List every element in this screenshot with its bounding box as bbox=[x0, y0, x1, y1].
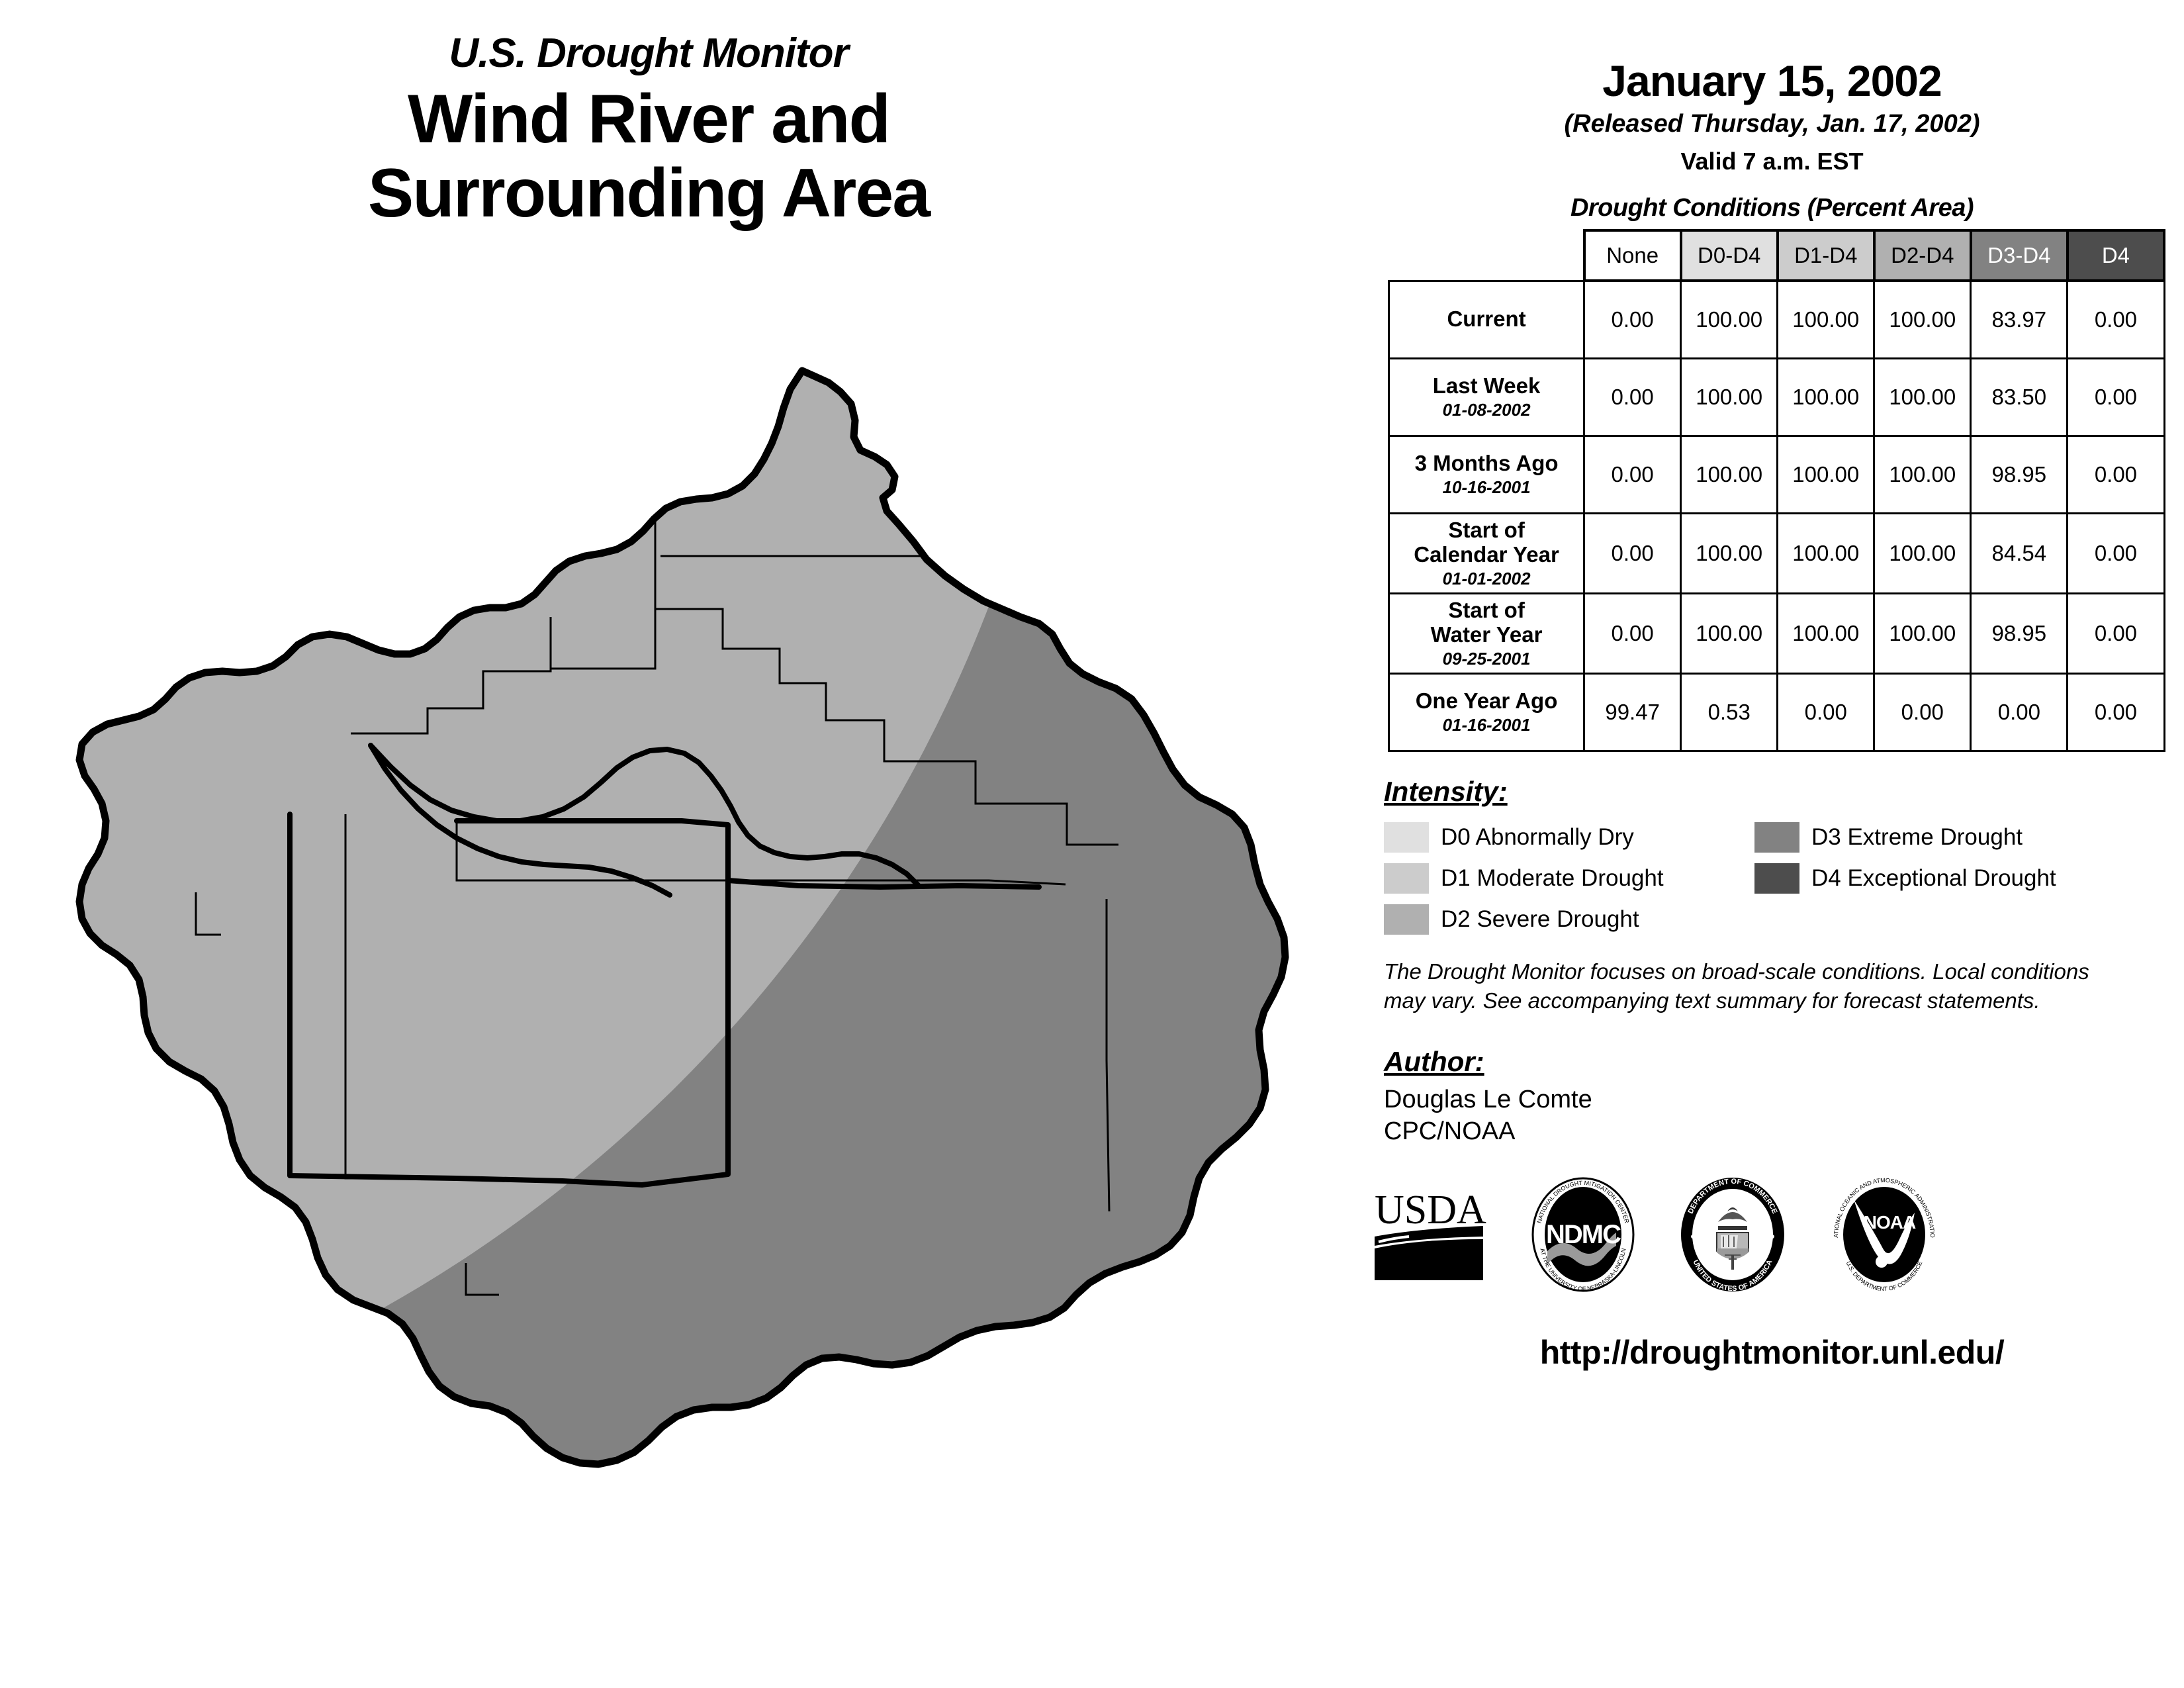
table-cell: 0.00 bbox=[2068, 436, 2164, 513]
map-container[interactable] bbox=[60, 357, 1304, 1542]
ndmc-logo: NDMC NATIONAL DROUGHT MITIGATION CENTER … bbox=[1530, 1177, 1636, 1296]
table-cell: 0.00 bbox=[2068, 358, 2164, 436]
table-row: Start of Water Year09-25-20010.00100.001… bbox=[1389, 593, 2165, 673]
table-cell: 0.00 bbox=[2068, 593, 2164, 673]
legend-item-d0: D0 Abnormally Dry bbox=[1384, 822, 1754, 853]
table-cell: 0.00 bbox=[2068, 513, 2164, 593]
row-label-name: Last Week bbox=[1392, 374, 1580, 399]
column-header-d1-d4: D1-D4 bbox=[1778, 230, 1874, 281]
table-cell: 100.00 bbox=[1778, 281, 1874, 358]
svg-text:USDA: USDA bbox=[1375, 1188, 1486, 1233]
author-name: Douglas Le Comte bbox=[1384, 1084, 2184, 1116]
table-cell: 0.00 bbox=[1971, 673, 2068, 751]
row-label-date: 10-16-2001 bbox=[1392, 478, 1580, 497]
row-label: One Year Ago01-16-2001 bbox=[1389, 673, 1584, 751]
disclaimer-text: The Drought Monitor focuses on broad-sca… bbox=[1384, 957, 2132, 1015]
column-header-none: None bbox=[1584, 230, 1681, 281]
table-caption: Drought Conditions (Percent Area) bbox=[1360, 194, 2184, 222]
intensity-heading: Intensity: bbox=[1384, 776, 1508, 808]
table-cell: 83.97 bbox=[1971, 281, 2068, 358]
legend-label-d0: D0 Abnormally Dry bbox=[1441, 824, 1634, 851]
table-cell: 0.00 bbox=[1584, 281, 1681, 358]
row-label: 3 Months Ago10-16-2001 bbox=[1389, 436, 1584, 513]
noaa-logo: NOAA NATIONAL OCEANIC AND ATMOSPHERIC AD… bbox=[1830, 1177, 1939, 1296]
table-cell: 100.00 bbox=[1681, 513, 1778, 593]
column-header-d3-d4: D3-D4 bbox=[1971, 230, 2068, 281]
row-label: Start of Calendar Year01-01-2002 bbox=[1389, 513, 1584, 593]
legend-label-d4: D4 Exceptional Drought bbox=[1811, 865, 2056, 892]
table-cell: 100.00 bbox=[1778, 593, 1874, 673]
table-cell: 98.95 bbox=[1971, 436, 2068, 513]
table-row: Current0.00100.00100.00100.0083.970.00 bbox=[1389, 281, 2165, 358]
legend-label-d3: D3 Extreme Drought bbox=[1811, 824, 2023, 851]
row-label-name: Start of Calendar Year bbox=[1392, 518, 1580, 567]
valid-date: January 15, 2002 bbox=[1360, 58, 2184, 104]
legend-swatch-d2 bbox=[1384, 904, 1429, 935]
row-label: Start of Water Year09-25-2001 bbox=[1389, 593, 1584, 673]
legend-item-d2: D2 Severe Drought bbox=[1384, 904, 1754, 935]
svg-text:NOAA: NOAA bbox=[1864, 1212, 1916, 1233]
column-header-d4: D4 bbox=[2068, 230, 2164, 281]
table-cell: 0.00 bbox=[1778, 673, 1874, 751]
table-cell: 100.00 bbox=[1681, 358, 1778, 436]
author-heading: Author: bbox=[1384, 1046, 1484, 1078]
legend-swatch-d0 bbox=[1384, 822, 1429, 853]
table-cell: 100.00 bbox=[1874, 593, 1971, 673]
table-header-row: NoneD0-D4D1-D4D2-D4D3-D4D4 bbox=[1389, 230, 2165, 281]
row-label: Current bbox=[1389, 281, 1584, 358]
table-cell: 100.00 bbox=[1874, 513, 1971, 593]
intensity-legend: Intensity: D0 Abnormally DryD3 Extreme D… bbox=[1384, 776, 2184, 935]
table-cell: 100.00 bbox=[1778, 513, 1874, 593]
table-cell: 100.00 bbox=[1681, 593, 1778, 673]
table-cell: 99.47 bbox=[1584, 673, 1681, 751]
row-label-date: 01-08-2002 bbox=[1392, 400, 1580, 420]
legend-item-d1: D1 Moderate Drought bbox=[1384, 863, 1754, 894]
row-label-name: One Year Ago bbox=[1392, 689, 1580, 714]
svg-text:NDMC: NDMC bbox=[1546, 1220, 1621, 1249]
table-cell: 0.53 bbox=[1681, 673, 1778, 751]
release-date: (Released Thursday, Jan. 17, 2002) bbox=[1360, 111, 2184, 138]
table-row: Start of Calendar Year01-01-20020.00100.… bbox=[1389, 513, 2165, 593]
author-block: Author: Douglas Le Comte CPC/NOAA bbox=[1384, 1046, 2184, 1148]
table-row: Last Week01-08-20020.00100.00100.00100.0… bbox=[1389, 358, 2165, 436]
table-row: 3 Months Ago10-16-20010.00100.00100.0010… bbox=[1389, 436, 2165, 513]
row-label-date: 01-16-2001 bbox=[1392, 716, 1580, 735]
table-row: One Year Ago01-16-200199.470.530.000.000… bbox=[1389, 673, 2165, 751]
logo-row: USDA NDMC NATIONAL DROUGHT MITIGATION CE… bbox=[1372, 1177, 2184, 1296]
table-cell: 84.54 bbox=[1971, 513, 2068, 593]
legend-grid: D0 Abnormally DryD3 Extreme DroughtD1 Mo… bbox=[1384, 822, 2184, 935]
table-cell: 0.00 bbox=[1584, 513, 1681, 593]
legend-label-d1: D1 Moderate Drought bbox=[1441, 865, 1664, 892]
column-header-d0-d4: D0-D4 bbox=[1681, 230, 1778, 281]
table-cell: 0.00 bbox=[2068, 673, 2164, 751]
table-cell: 100.00 bbox=[1778, 358, 1874, 436]
author-affiliation: CPC/NOAA bbox=[1384, 1116, 2184, 1148]
table-cell: 100.00 bbox=[1874, 436, 1971, 513]
table-cell: 0.00 bbox=[1584, 593, 1681, 673]
table-cell: 83.50 bbox=[1971, 358, 2068, 436]
table-cell: 100.00 bbox=[1874, 358, 1971, 436]
title-block: U.S. Drought Monitor Wind River and Surr… bbox=[86, 33, 1211, 231]
legend-item-d3: D3 Extreme Drought bbox=[1754, 822, 2184, 853]
table-cell: 100.00 bbox=[1778, 436, 1874, 513]
wind-river-drought-map[interactable] bbox=[60, 357, 1304, 1542]
table-cell: 0.00 bbox=[1874, 673, 1971, 751]
drought-conditions-table: NoneD0-D4D1-D4D2-D4D3-D4D4 Current0.0010… bbox=[1388, 229, 2165, 752]
drought-monitor-kicker: U.S. Drought Monitor bbox=[86, 33, 1211, 74]
table-body: Current0.00100.00100.00100.0083.970.00La… bbox=[1389, 281, 2165, 751]
legend-swatch-d4 bbox=[1754, 863, 1799, 894]
row-label: Last Week01-08-2002 bbox=[1389, 358, 1584, 436]
table-cell: 0.00 bbox=[2068, 281, 2164, 358]
row-label-name: Current bbox=[1392, 307, 1580, 332]
valid-time: Valid 7 a.m. EST bbox=[1360, 148, 2184, 175]
table-cell: 0.00 bbox=[1584, 436, 1681, 513]
table-cell: 100.00 bbox=[1681, 436, 1778, 513]
table-cell: 100.00 bbox=[1681, 281, 1778, 358]
table-cell: 100.00 bbox=[1874, 281, 1971, 358]
legend-swatch-d3 bbox=[1754, 822, 1799, 853]
table-cell: 0.00 bbox=[1584, 358, 1681, 436]
map-fill-d3 bbox=[60, 357, 1304, 1542]
date-block: January 15, 2002 (Released Thursday, Jan… bbox=[1360, 0, 2184, 175]
column-header-d2-d4: D2-D4 bbox=[1874, 230, 1971, 281]
row-label-name: Start of Water Year bbox=[1392, 598, 1580, 647]
site-url[interactable]: http://droughtmonitor.unl.edu/ bbox=[1360, 1333, 2184, 1372]
table-cell: 98.95 bbox=[1971, 593, 2068, 673]
row-label-date: 01-01-2002 bbox=[1392, 569, 1580, 588]
legend-label-d2: D2 Severe Drought bbox=[1441, 906, 1639, 933]
usda-logo: USDA bbox=[1372, 1185, 1488, 1288]
doc-seal: DEPARTMENT OF COMMERCE UNITED STATES OF … bbox=[1678, 1177, 1788, 1296]
corner-cell bbox=[1389, 230, 1584, 281]
row-label-name: 3 Months Ago bbox=[1392, 451, 1580, 476]
page-title: Wind River and Surrounding Area bbox=[86, 82, 1211, 231]
row-label-date: 09-25-2001 bbox=[1392, 649, 1580, 669]
right-info-panel: January 15, 2002 (Released Thursday, Jan… bbox=[1360, 0, 2184, 1688]
legend-swatch-d1 bbox=[1384, 863, 1429, 894]
legend-item-d4: D4 Exceptional Drought bbox=[1754, 863, 2184, 894]
